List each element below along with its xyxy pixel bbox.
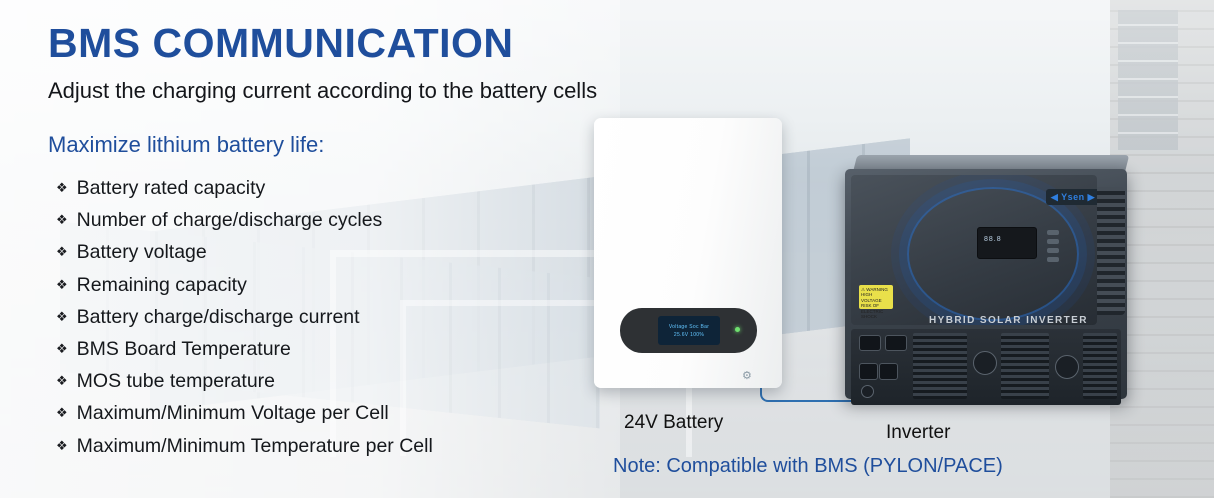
list-item: ❖Battery voltage xyxy=(56,236,616,268)
bullet-marker-icon: ❖ xyxy=(56,172,68,204)
feature-bullet-list: ❖Battery rated capacity❖Number of charge… xyxy=(56,172,616,462)
inverter-caption: Inverter xyxy=(886,422,950,444)
list-item-label: MOS tube temperature xyxy=(77,365,275,397)
list-item: ❖Battery charge/discharge current xyxy=(56,301,616,333)
list-item-label: BMS Board Temperature xyxy=(77,333,291,365)
list-item: ❖BMS Board Temperature xyxy=(56,333,616,365)
page-title: BMS COMMUNICATION xyxy=(48,20,514,67)
section-heading: Maximize lithium battery life: xyxy=(48,132,324,158)
bullet-marker-icon: ❖ xyxy=(56,397,68,429)
list-item-label: Battery voltage xyxy=(77,236,207,268)
list-item: ❖Battery rated capacity xyxy=(56,172,616,204)
list-item-label: Remaining capacity xyxy=(77,269,247,301)
compatibility-note: Note: Compatible with BMS (PYLON/PACE) xyxy=(613,455,1003,478)
bullet-marker-icon: ❖ xyxy=(56,365,68,397)
list-item-label: Maximum/Minimum Voltage per Cell xyxy=(77,397,389,429)
bullet-marker-icon: ❖ xyxy=(56,204,68,236)
list-item-label: Maximum/Minimum Temperature per Cell xyxy=(77,430,433,462)
bullet-marker-icon: ❖ xyxy=(56,269,68,301)
list-item-label: Number of charge/discharge cycles xyxy=(77,204,383,236)
page-subtitle: Adjust the charging current according to… xyxy=(48,78,597,104)
list-item-label: Battery charge/discharge current xyxy=(77,301,360,333)
battery-caption: 24V Battery xyxy=(624,412,723,434)
list-item-label: Battery rated capacity xyxy=(77,172,266,204)
list-item: ❖Maximum/Minimum Voltage per Cell xyxy=(56,397,616,429)
bullet-marker-icon: ❖ xyxy=(56,430,68,462)
list-item: ❖MOS tube temperature xyxy=(56,365,616,397)
list-item: ❖Number of charge/discharge cycles xyxy=(56,204,616,236)
bullet-marker-icon: ❖ xyxy=(56,333,68,365)
bullet-marker-icon: ❖ xyxy=(56,236,68,268)
bullet-marker-icon: ❖ xyxy=(56,301,68,333)
content-layer: BMS COMMUNICATION Adjust the charging cu… xyxy=(0,0,1214,498)
list-item: ❖Maximum/Minimum Temperature per Cell xyxy=(56,430,616,462)
list-item: ❖Remaining capacity xyxy=(56,269,616,301)
